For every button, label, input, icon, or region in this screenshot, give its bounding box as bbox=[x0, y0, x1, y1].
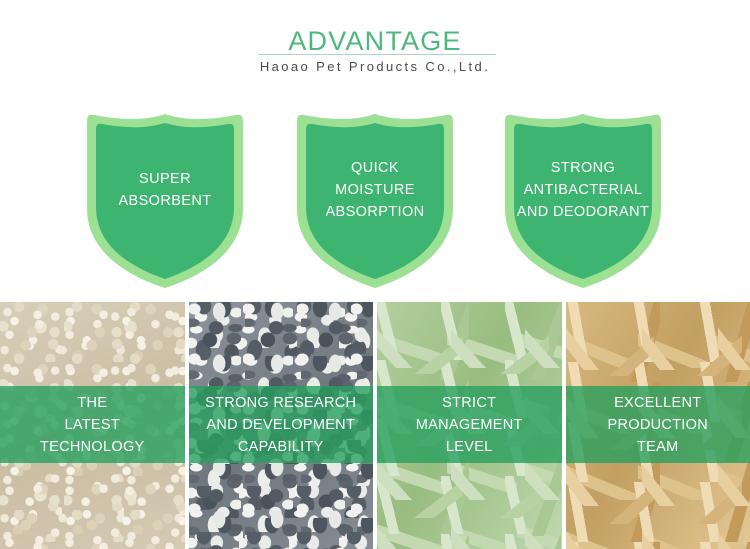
company-name-container: Haoao Pet Products Co.,Ltd. bbox=[0, 58, 750, 76]
product-photo-cell-3: STRICT MANAGEMENT LEVEL bbox=[377, 302, 562, 549]
product-photo-cell-2: STRONG RESEARCH AND DEVELOPMENT CAPABILI… bbox=[189, 302, 374, 549]
feature-shield-2: QUICK MOISTURE ABSORPTION bbox=[292, 112, 458, 290]
feature-shield-3: STRONG ANTIBACTERIAL AND DEODORANT bbox=[500, 112, 666, 290]
product-photo-cell-2-label: STRONG RESEARCH AND DEVELOPMENT CAPABILI… bbox=[189, 386, 374, 463]
product-photo-cell-1-label: THE LATEST TECHNOLOGY bbox=[0, 386, 185, 463]
page-title: ADVANTAGE bbox=[282, 26, 467, 56]
product-photo-cell-4-label: EXCELLENT PRODUCTION TEAM bbox=[566, 386, 750, 463]
advantage-banner: ADVANTAGE Haoao Pet Products Co.,Ltd. SU… bbox=[0, 0, 750, 549]
feature-shield-1: SUPER ABSORBENT bbox=[82, 112, 248, 290]
header: ADVANTAGE Haoao Pet Products Co.,Ltd. bbox=[0, 0, 750, 96]
feature-shield-1-label: SUPER ABSORBENT bbox=[72, 112, 258, 290]
product-photo-cell-1: THE LATEST TECHNOLOGY bbox=[0, 302, 185, 549]
company-name: Haoao Pet Products Co.,Ltd. bbox=[260, 58, 490, 76]
feature-shield-row: SUPER ABSORBENT QUICK MOISTURE ABSORPTIO… bbox=[0, 112, 750, 292]
product-photo-cell-3-label: STRICT MANAGEMENT LEVEL bbox=[377, 386, 562, 463]
product-photo-cell-4: EXCELLENT PRODUCTION TEAM bbox=[566, 302, 750, 549]
title-underline bbox=[258, 54, 496, 55]
product-photo-grid: THE LATEST TECHNOLOGY STRONG RESEARCH AN… bbox=[0, 302, 750, 549]
feature-shield-3-label: STRONG ANTIBACTERIAL AND DEODORANT bbox=[490, 112, 676, 290]
feature-shield-2-label: QUICK MOISTURE ABSORPTION bbox=[282, 112, 468, 290]
page-title-container: ADVANTAGE bbox=[0, 26, 750, 56]
